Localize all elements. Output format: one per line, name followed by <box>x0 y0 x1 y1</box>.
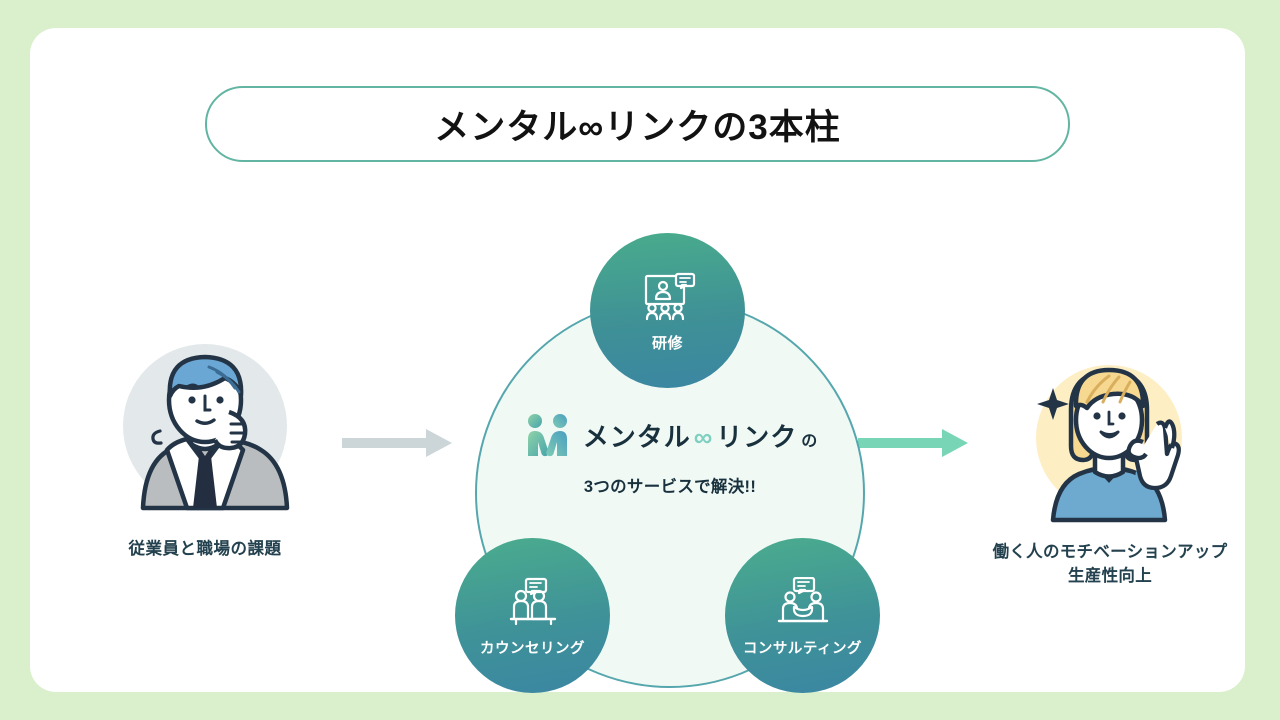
consulting-meeting-icon <box>776 574 830 630</box>
flow-right-block: 働く人のモチベーションアップ 生産性向上 <box>965 358 1255 589</box>
flow-right-caption-line2: 生産性向上 <box>993 565 1228 589</box>
service-bubble-training[interactable]: 研修 <box>590 233 745 388</box>
service-label-consulting: コンサルティング <box>743 637 862 658</box>
service-label-training: 研修 <box>652 332 683 353</box>
worried-businessman-illustration <box>113 338 298 523</box>
logo-row: メンタル ∞ リンク の <box>522 413 819 457</box>
service-label-counseling: カウンセリング <box>480 637 585 658</box>
page-title: メンタル∞リンクの3本柱 <box>434 99 840 150</box>
presentation-training-icon <box>640 269 696 325</box>
logo-suffix: の <box>797 427 818 451</box>
main-card: メンタル∞リンクの3本柱 従業員と職場の課題 <box>30 28 1245 692</box>
flow-right-caption-line1: 働く人のモチベーションアップ <box>993 541 1228 565</box>
counseling-desk-icon <box>506 574 560 630</box>
happy-woman-ok-sign-illustration <box>1023 358 1198 533</box>
logo-text-before: メンタル <box>583 417 691 454</box>
mental-link-logo-icon <box>522 413 574 457</box>
logo-infinity-icon: ∞ <box>691 422 717 453</box>
service-bubble-consulting[interactable]: コンサルティング <box>725 538 880 693</box>
center-logo-block: メンタル ∞ リンク の 3つのサービスで解決!! <box>500 413 840 497</box>
service-bubble-counseling[interactable]: カウンセリング <box>455 538 610 693</box>
logo-text-after: リンク <box>716 417 797 454</box>
page-title-pill: メンタル∞リンクの3本柱 <box>205 86 1070 162</box>
flow-left-block: 従業員と職場の課題 <box>90 338 320 559</box>
center-subtitle: 3つのサービスで解決!! <box>584 473 756 497</box>
services-diagram: メンタル ∞ リンク の 3つのサービスで解決!! <box>455 213 885 693</box>
logo-wordmark: メンタル ∞ リンク の <box>583 417 819 454</box>
arrow-right-icon-left <box>342 426 452 460</box>
flow-right-caption: 働く人のモチベーションアップ 生産性向上 <box>993 541 1228 589</box>
flow-left-caption: 従業員と職場の課題 <box>129 535 282 559</box>
